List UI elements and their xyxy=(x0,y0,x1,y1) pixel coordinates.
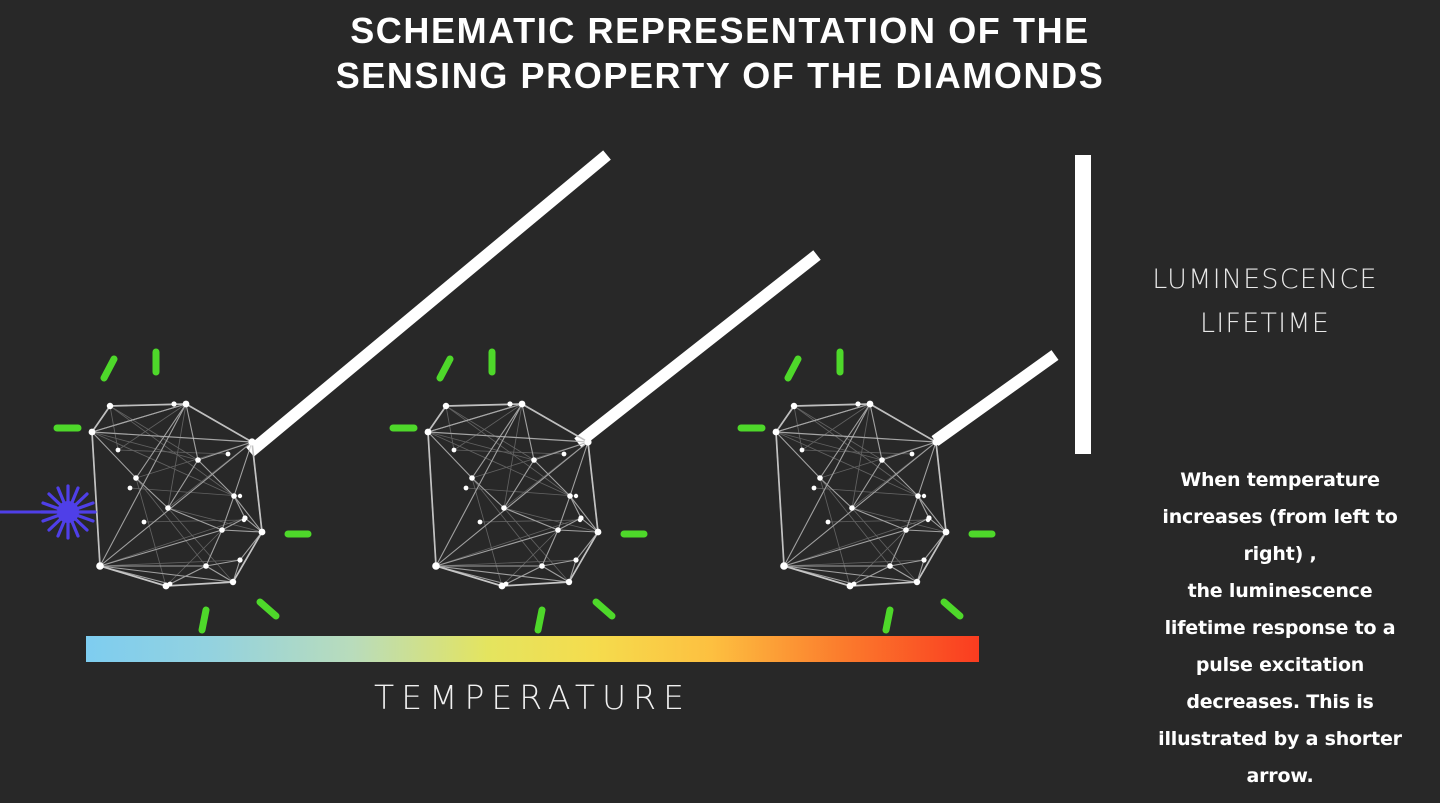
emission-dashes-icon xyxy=(741,352,992,630)
lifetime-arrow-group xyxy=(250,155,1055,452)
diamond-warm xyxy=(393,352,644,630)
explanatory-caption: When temperature increases (from left to… xyxy=(1130,462,1430,795)
caption-line-4: the luminescence xyxy=(1130,573,1430,610)
page-title-line-1: SCHEMATIC REPRESENTATION OF THE xyxy=(0,8,1440,53)
lifetime-arrow-medium xyxy=(578,255,817,443)
page-title: SCHEMATIC REPRESENTATION OF THE SENSING … xyxy=(0,8,1440,98)
temperature-axis-label: TEMPERATURE xyxy=(85,678,980,717)
caption-line-8: illustrated by a shorter xyxy=(1130,721,1430,758)
caption-line-3: right) , xyxy=(1130,536,1430,573)
caption-line-2: increases (from left to xyxy=(1130,499,1430,536)
caption-line-1: When temperature xyxy=(1130,462,1430,499)
luminescence-lifetime-label: LUMINESCENCE LIFETIME xyxy=(1100,258,1430,346)
lifetime-arrow-long xyxy=(250,155,607,452)
luminescence-lifetime-reference-bar xyxy=(1075,155,1091,454)
temperature-gradient-bar xyxy=(86,636,979,662)
caption-line-6: pulse excitation xyxy=(1130,647,1430,684)
page-title-line-2: SENSING PROPERTY OF THE DIAMONDS xyxy=(0,53,1440,98)
diamond-wireframe-icon xyxy=(89,401,266,590)
laser-excitation-icon xyxy=(0,486,95,538)
diamond-cold xyxy=(57,352,308,630)
emission-dashes-icon xyxy=(57,352,308,630)
caption-line-5: lifetime response to a xyxy=(1130,610,1430,647)
caption-line-9: arrow. xyxy=(1130,758,1430,795)
lifetime-arrow-short xyxy=(935,355,1055,441)
luminescence-lifetime-label-line-2: LIFETIME xyxy=(1100,302,1430,346)
emission-dashes-icon xyxy=(393,352,644,630)
diamond-wireframe-icon xyxy=(773,401,950,590)
caption-line-7: decreases. This is xyxy=(1130,684,1430,721)
luminescence-lifetime-label-line-1: LUMINESCENCE xyxy=(1100,258,1430,302)
diamond-wireframe-icon xyxy=(425,401,602,590)
diamond-hot xyxy=(741,352,992,630)
diagram-canvas: SCHEMATIC REPRESENTATION OF THE SENSING … xyxy=(0,0,1440,803)
